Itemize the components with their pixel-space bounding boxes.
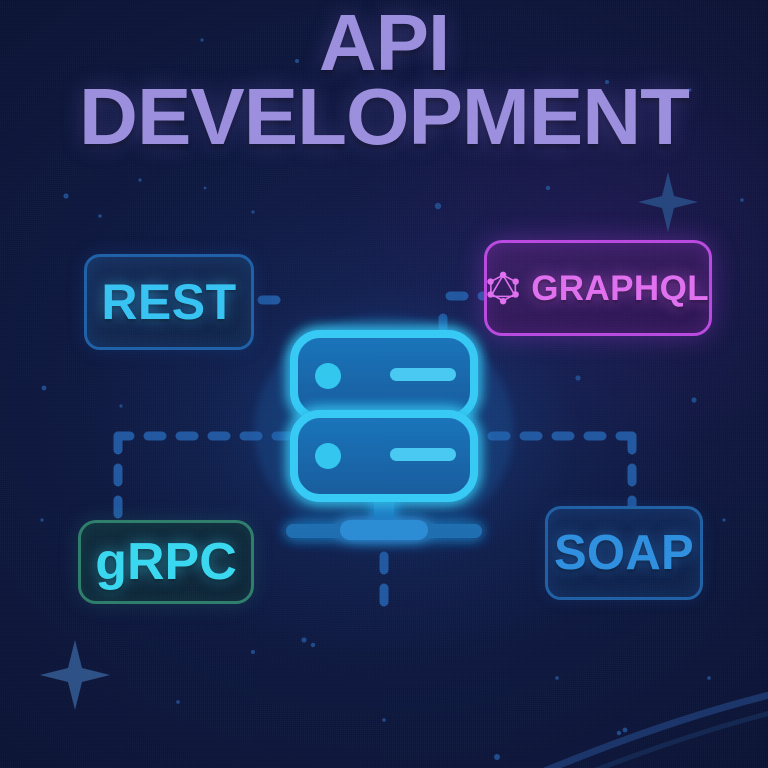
server-led-top (315, 363, 341, 389)
title-line-2: DEVELOPMENT (0, 80, 768, 154)
poster-canvas: API DEVELOPMENT REST (0, 0, 768, 768)
badge-soap-label: SOAP (554, 529, 694, 578)
badge-grpc-label: gRPC (95, 536, 237, 588)
server-led-bottom (315, 443, 341, 469)
graphql-logo-icon (487, 257, 519, 319)
badge-soap[interactable]: SOAP (545, 506, 703, 600)
server-bar-top (390, 368, 456, 381)
badge-graphql[interactable]: GRAPHQL (484, 240, 712, 336)
badge-grpc[interactable]: gRPC (78, 520, 254, 604)
badge-rest[interactable]: REST (84, 254, 254, 350)
page-title: API DEVELOPMENT (0, 2, 768, 155)
server-bar-bottom (390, 448, 456, 461)
title-line-1: API (0, 2, 768, 80)
badge-graphql-label: GRAPHQL (531, 271, 709, 306)
badge-rest-label: REST (101, 277, 236, 327)
